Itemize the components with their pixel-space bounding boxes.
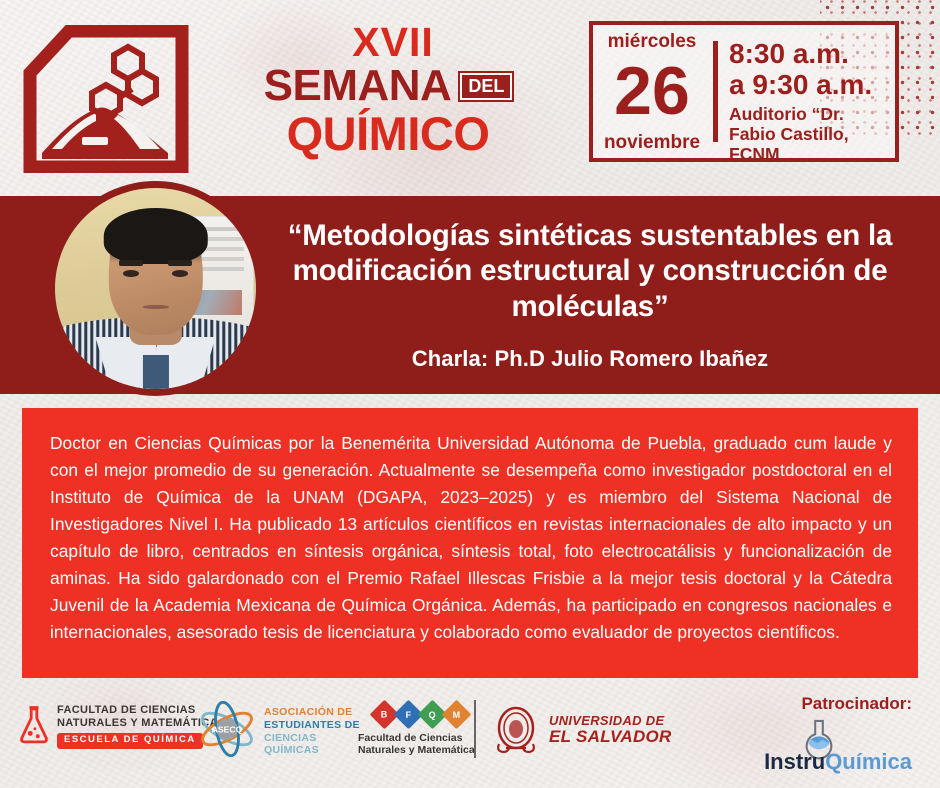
atom-orbit-icon: ASECQ [196, 701, 258, 762]
event-venue: Auditorio “Dr. Fabio Castillo, FCNM [729, 105, 891, 165]
logo-asecq-line1: ASOCIACIÓN DE [264, 706, 360, 719]
event-datetime-box: miércoles 26 noviembre 8:30 a.m. a 9:30 … [589, 21, 899, 162]
datebox-divider [713, 41, 718, 142]
logo-asecq-line3: CIENCIAS [264, 732, 360, 745]
facultad-diamond: M [442, 700, 472, 730]
svg-text:ASECQ: ASECQ [212, 724, 243, 734]
logo-fcnm-badge: ESCUELA DE QUÍMICA [57, 733, 203, 749]
logo-asecq: ASECQ ASOCIACIÓN DE ESTUDIANTES DE CIENC… [196, 701, 360, 762]
poster-canvas: XVII SEMANA DEL QUÍMICO miércoles 26 nov… [0, 0, 940, 788]
event-time-start: 8:30 a.m. [729, 38, 891, 69]
logo-facultad-ciencias: B F Q M Facultad de Ciencias Naturales y… [358, 704, 475, 757]
chemistry-volcano-logo-icon [22, 25, 190, 173]
brand-semana: SEMANA [264, 64, 452, 108]
sponsor-name-part1: Instru [764, 749, 825, 774]
brand-del-badge: DEL [460, 73, 512, 100]
logo-facultad-line2: Naturales y Matemática [358, 744, 475, 756]
speaker-avatar [48, 181, 263, 396]
speaker-bio-block: Doctor en Ciencias Químicas por la Benem… [22, 408, 918, 678]
facultad-diamond-letter: Q [429, 709, 436, 719]
logo-fcnm-line1: FACULTAD DE CIENCIAS [57, 704, 218, 716]
event-time-venue: 8:30 a.m. a 9:30 a.m. Auditorio “Dr. Fab… [727, 25, 895, 158]
logo-facultad-line1: Facultad de Ciencias [358, 732, 475, 744]
university-seal-icon [492, 704, 540, 756]
event-date: miércoles 26 noviembre [593, 25, 711, 158]
poster-footer: FACULTAD DE CIENCIAS NATURALES Y MATEMÁT… [0, 686, 940, 788]
logo-ues-line1: UNIVERSIDAD DE [549, 714, 672, 728]
logo-universidad-el-salvador: UNIVERSIDAD DE EL SALVADOR [492, 704, 672, 756]
logo-fcnm-line2: NATURALES Y MATEMÁTICA [57, 717, 218, 729]
event-month: noviembre [604, 133, 700, 152]
talk-title: “Metodologías sintéticas sustentables en… [258, 218, 922, 323]
facultad-diamond-row: B F Q M [374, 704, 475, 725]
facultad-diamond-letter: M [453, 710, 461, 720]
sponsor-section: Patrocinador: InstruQuímica [801, 694, 912, 776]
talk-speaker: Charla: Ph.D Julio Romero Ibañez [258, 346, 922, 372]
event-day-number: 26 [614, 64, 690, 120]
sponsor-logo: InstruQuímica [801, 718, 912, 776]
brand-wordmark: XVII SEMANA DEL QUÍMICO [198, 22, 578, 157]
event-day-of-week: miércoles [608, 32, 697, 51]
facultad-diamond-letter: B [381, 710, 388, 720]
event-time-end: a 9:30 a.m. [729, 69, 891, 100]
logo-ues-line2: EL SALVADOR [549, 728, 672, 747]
sponsor-name-part2: Química [825, 749, 912, 774]
brand-edition: XVII [198, 22, 578, 63]
erlenmeyer-flask-icon [18, 704, 50, 749]
poster-header: XVII SEMANA DEL QUÍMICO miércoles 26 nov… [0, 0, 940, 186]
facultad-diamond-letter: F [406, 710, 412, 720]
logo-fcnm-escuela-quimica: FACULTAD DE CIENCIAS NATURALES Y MATEMÁT… [18, 704, 218, 749]
logo-asecq-line2: ESTUDIANTES DE [264, 719, 360, 732]
speaker-bio-text: Doctor en Ciencias Químicas por la Benem… [50, 430, 892, 646]
footer-divider [474, 700, 476, 758]
logo-asecq-line4: QUÍMICAS [264, 744, 360, 757]
sponsor-label: Patrocinador: [801, 694, 912, 714]
brand-quimico: QUÍMICO [198, 110, 578, 157]
